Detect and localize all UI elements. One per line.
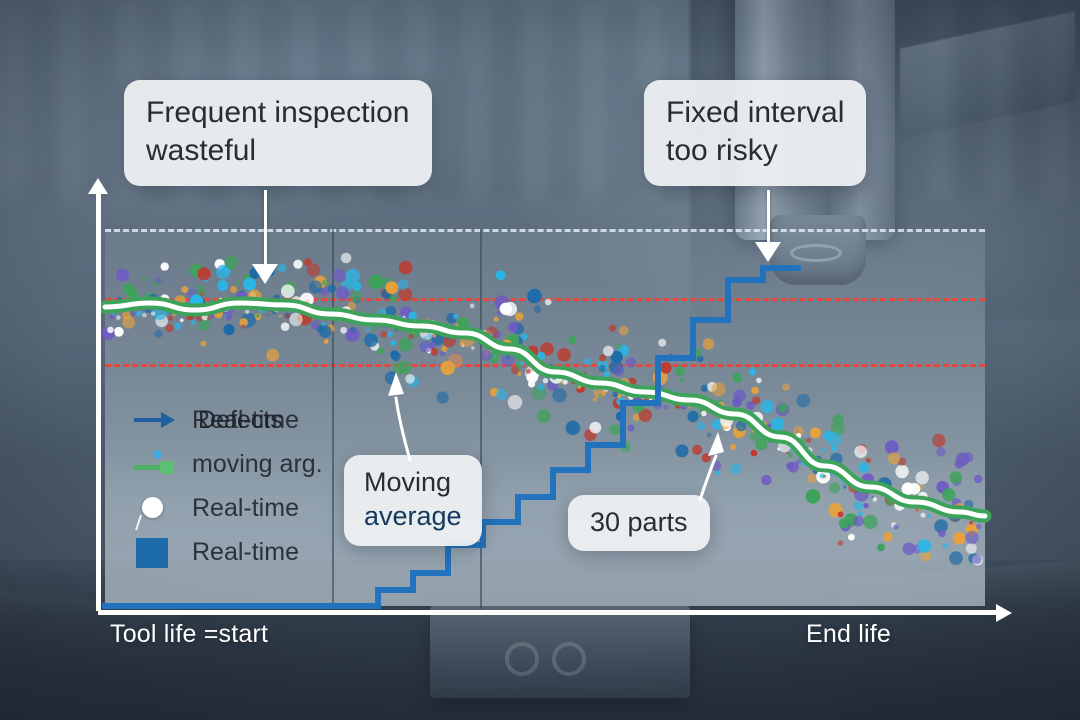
infographic-canvas: Tool life =start End life Real-time Defe… bbox=[0, 0, 1080, 720]
arrow-up-icon bbox=[708, 432, 724, 456]
callout-leader-lines bbox=[0, 0, 1080, 720]
arrow-up-icon bbox=[388, 372, 404, 396]
